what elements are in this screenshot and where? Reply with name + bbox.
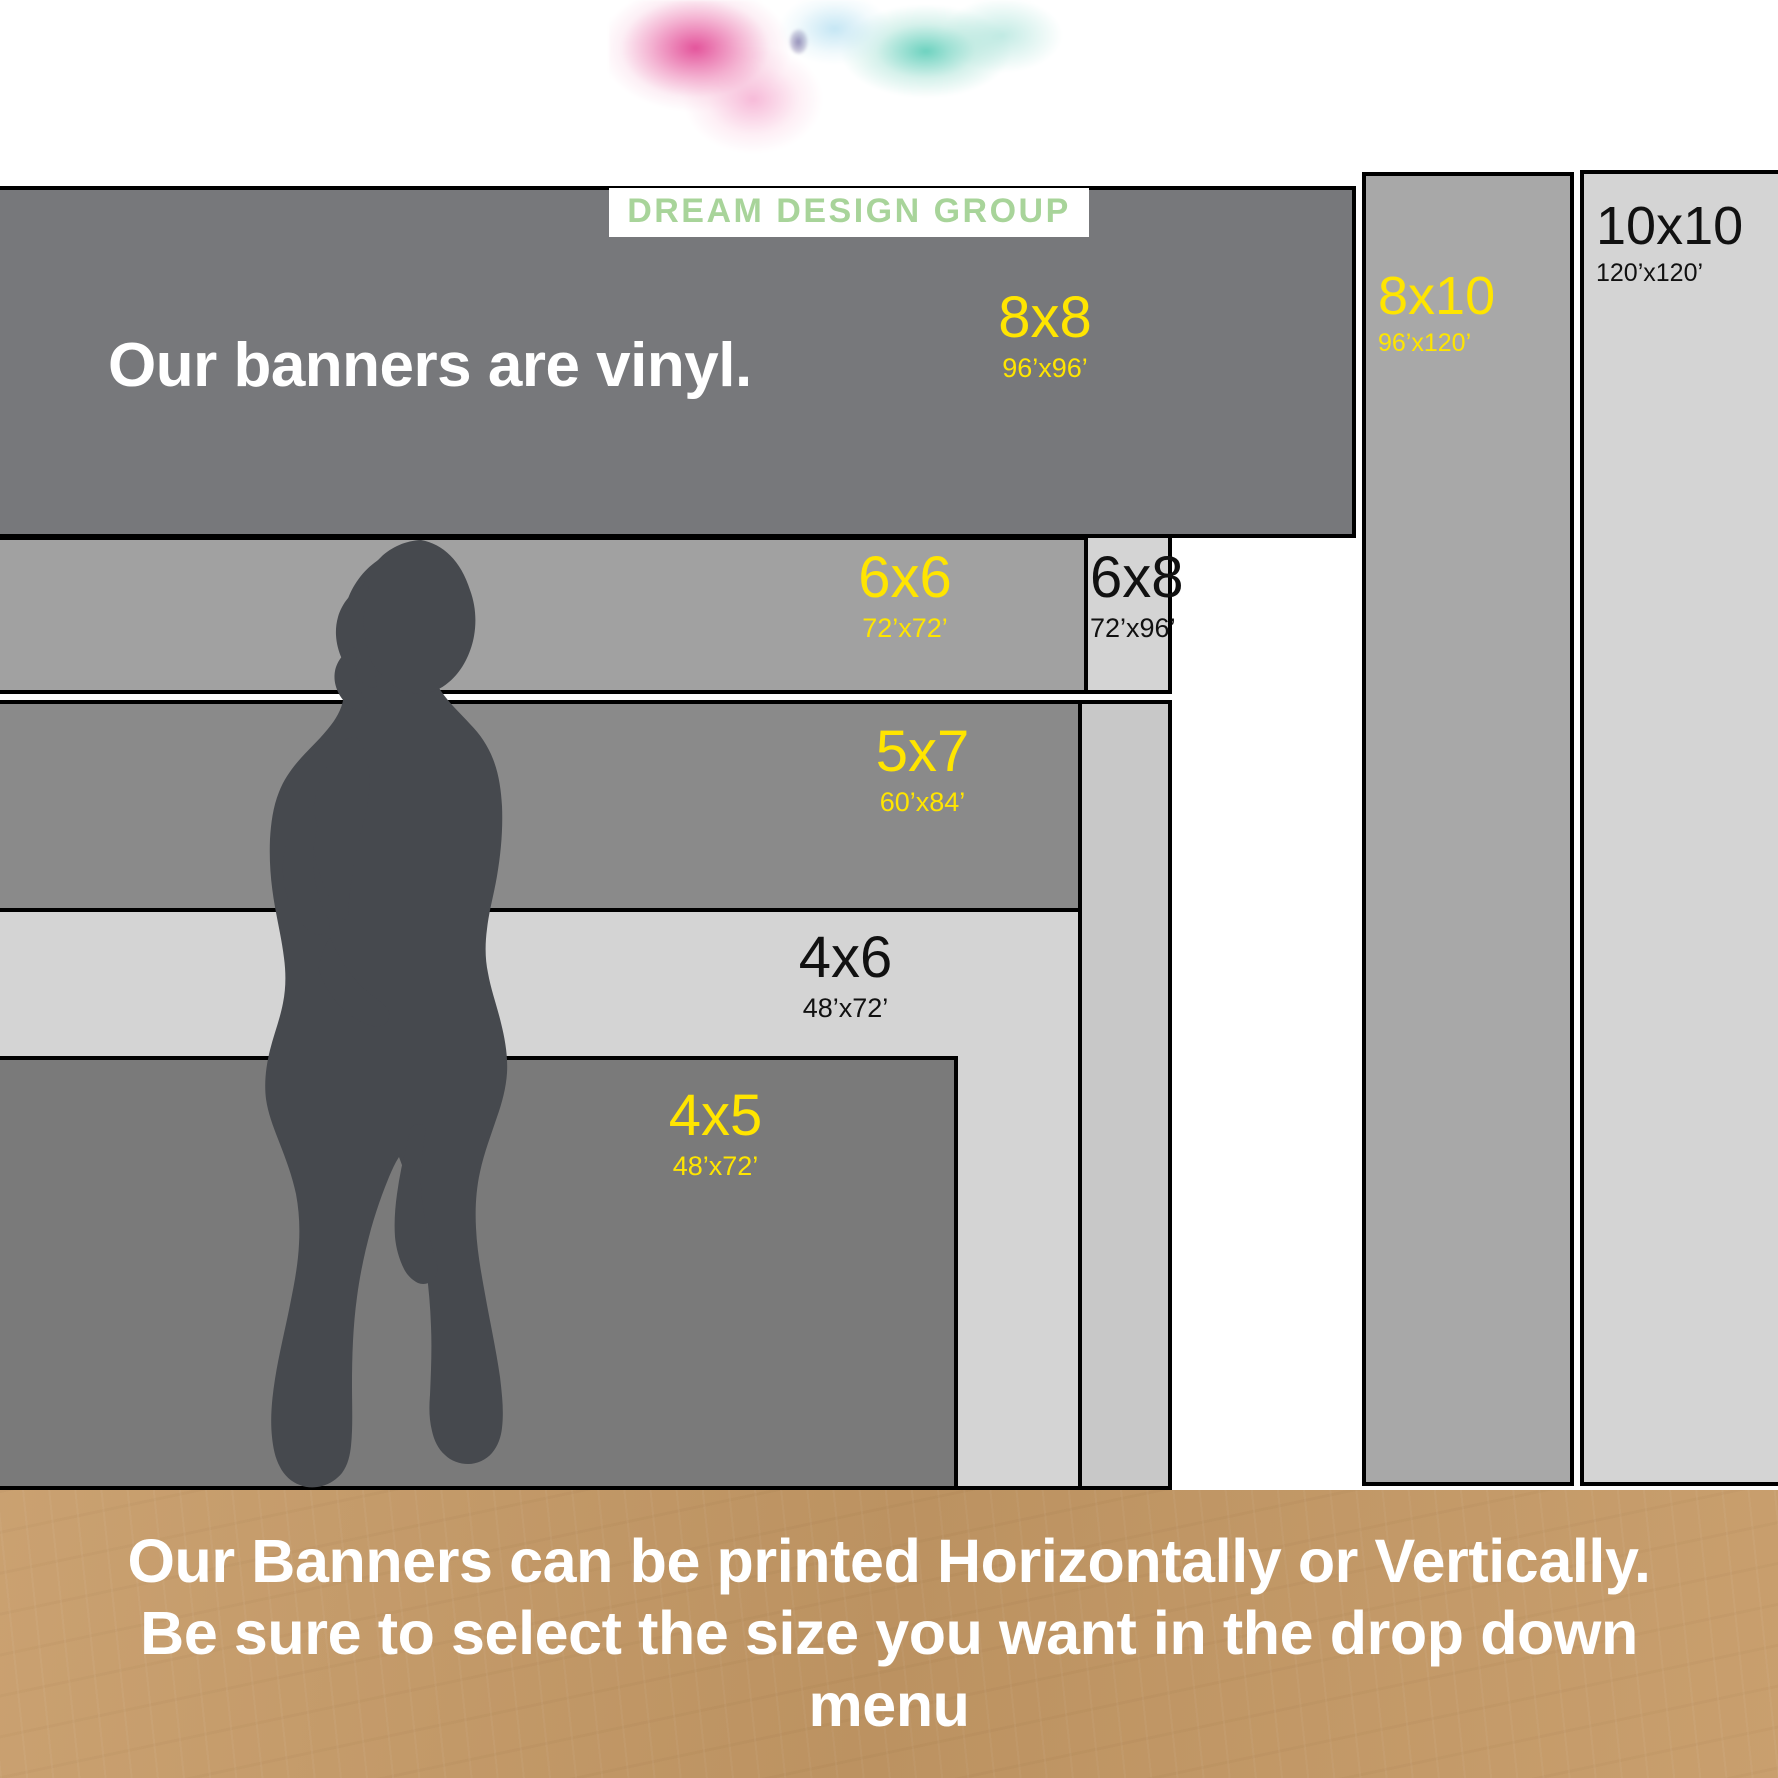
size-label-4x6: 4x6 48’x72’ [728, 928, 963, 1022]
footer-banner: Our Banners can be printed Horizontally … [0, 1490, 1778, 1778]
banner-rect-8x10[interactable] [1362, 172, 1574, 1486]
footer-text: Our Banners can be printed Horizontally … [109, 1526, 1669, 1742]
banner-size-chart: Our banners are vinyl. 10x10 120’x120’ 8… [0, 0, 1778, 1778]
size-label-8x10-size: 8x10 [1378, 268, 1563, 325]
size-label-8x8-dims: 96’x96’ [930, 355, 1160, 382]
size-label-6x6-dims: 72’x72’ [790, 615, 1020, 642]
watercolor-wash-icon [609, 0, 1089, 160]
size-label-8x8: 8x8 96’x96’ [930, 288, 1160, 382]
size-label-4x6-size: 4x6 [728, 928, 963, 989]
size-label-8x8-size: 8x8 [930, 288, 1160, 349]
banner-rect-10x10[interactable] [1580, 170, 1778, 1486]
size-label-4x5-size: 4x5 [598, 1086, 833, 1147]
size-label-4x6-dims: 48’x72’ [728, 995, 963, 1022]
size-label-5x7-dims: 60’x84’ [805, 789, 1040, 816]
page-headline: Our banners are vinyl. [108, 330, 752, 401]
size-label-10x10-size: 10x10 [1596, 198, 1776, 255]
size-label-6x6: 6x6 72’x72’ [790, 548, 1020, 642]
size-label-4x5: 4x5 48’x72’ [598, 1086, 833, 1180]
size-label-6x8-dims: 72’x96’ [1090, 615, 1305, 642]
size-label-4x5-dims: 48’x72’ [598, 1153, 833, 1180]
size-label-8x10: 8x10 96’x120’ [1378, 268, 1563, 356]
size-label-10x10-dims: 120’x120’ [1596, 261, 1776, 286]
size-label-6x8-size: 6x8 [1090, 548, 1305, 609]
size-label-5x7-size: 5x7 [805, 722, 1040, 783]
size-label-8x10-dims: 96’x120’ [1378, 331, 1563, 356]
size-label-5x7: 5x7 60’x84’ [805, 722, 1040, 816]
size-label-10x10: 10x10 120’x120’ [1596, 198, 1776, 286]
size-label-6x6-size: 6x6 [790, 548, 1020, 609]
size-label-6x8: 6x8 72’x96’ [1090, 548, 1305, 642]
